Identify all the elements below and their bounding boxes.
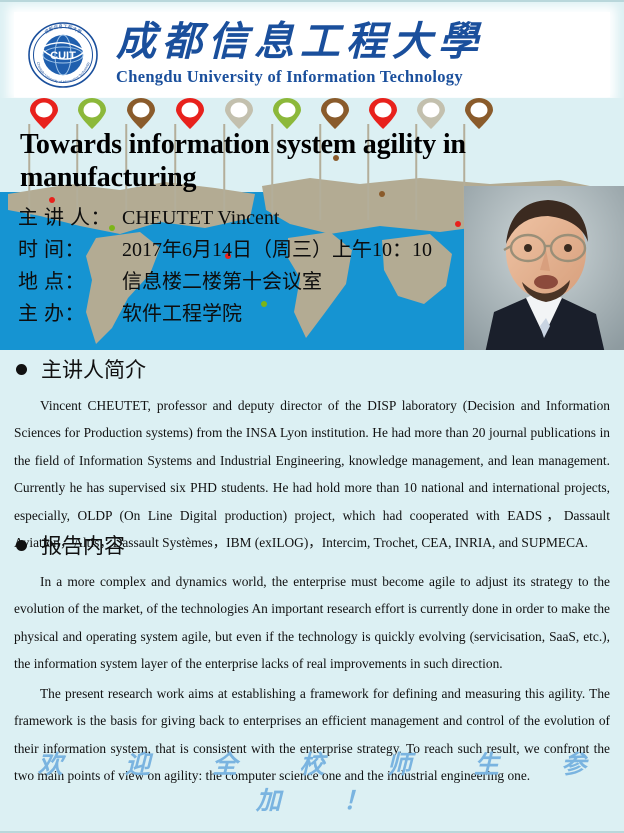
meta-row-location: 地 点： 信息楼二楼第十会议室 — [18, 272, 478, 292]
hero-banner: Towards information system agility in ma… — [0, 98, 624, 350]
university-name-cn: 成都信息工程大學 — [116, 22, 484, 62]
section-speaker-bio: 主讲人简介 Vincent CHEUTET, professor and dep… — [0, 354, 624, 557]
welcome-message: 欢 迎 全 校 师 生 参 加 ！ — [0, 745, 624, 817]
meta-row-organizer: 主 办： 软件工程学院 — [18, 304, 478, 324]
bullet-icon — [16, 540, 27, 551]
meta-value-location: 信息楼二楼第十会议室 — [122, 272, 322, 292]
seal-label: CUIT — [50, 50, 76, 62]
cuit-seal-icon: CUIT 成都信息工程大學 Chengdu University of Info… — [26, 18, 100, 92]
page-title: Towards information system agility in ma… — [20, 128, 510, 194]
report-paragraph-1: In a more complex and dynamics world, th… — [0, 568, 624, 678]
speaker-photo — [464, 186, 624, 350]
meta-row-time: 时 间： 2017年6月14日（周三）上午10：10 — [18, 240, 478, 260]
meta-label-organizer: 主 办： — [18, 304, 122, 324]
footer: 欢 迎 全 校 师 生 参 加 ！ — [0, 745, 624, 817]
section-heading-bio-label: 主讲人简介 — [41, 354, 146, 384]
meta-value-organizer: 软件工程学院 — [122, 304, 242, 324]
meta-row-speaker: 主 讲 人： CHEUTET Vincent — [18, 208, 478, 228]
university-header: CUIT 成都信息工程大學 Chengdu University of Info… — [14, 12, 610, 97]
meta-label-time: 时 间： — [18, 240, 122, 260]
section-heading-report-label: 报告内容 — [41, 530, 125, 560]
bullet-icon — [16, 364, 27, 375]
event-meta: 主 讲 人： CHEUTET Vincent 时 间： 2017年6月14日（周… — [18, 208, 478, 336]
meta-label-speaker: 主 讲 人： — [18, 208, 122, 228]
section-heading-bio: 主讲人简介 — [0, 354, 624, 384]
university-name-en: Chengdu University of Information Techno… — [116, 67, 484, 87]
section-heading-report: 报告内容 — [0, 530, 624, 560]
meta-label-location: 地 点： — [18, 272, 122, 292]
university-name-block: 成都信息工程大學 Chengdu University of Informati… — [116, 22, 484, 87]
poster-root: CUIT 成都信息工程大學 Chengdu University of Info… — [0, 0, 624, 833]
meta-value-time: 2017年6月14日（周三）上午10：10 — [122, 240, 432, 260]
meta-value-speaker: CHEUTET Vincent — [122, 208, 279, 228]
